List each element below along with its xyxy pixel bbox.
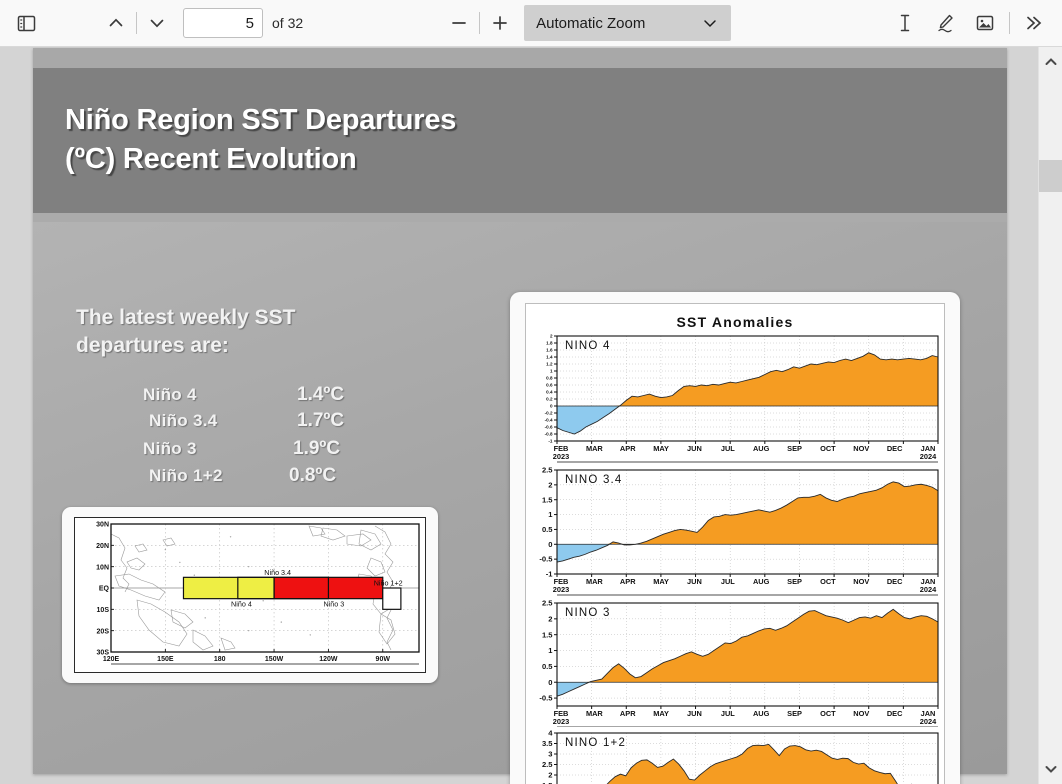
map-lon-tick-label: 180 <box>214 656 226 663</box>
chart-svg-nino-1-2: 43.532.521.510.50-0.5-1FEBMARAPRMAYJUNJU… <box>526 727 946 784</box>
page-number-input[interactable] <box>183 8 263 38</box>
x-tick-label: SEP <box>787 444 802 453</box>
add-image-icon <box>974 12 996 34</box>
chevron-down-icon <box>703 16 731 30</box>
y-tick-label: 2 <box>548 614 552 623</box>
x-axis-year-label: 2024 <box>920 452 937 461</box>
y-tick-label: 2 <box>550 334 553 339</box>
y-tick-label: 0 <box>550 404 553 409</box>
y-tick-label: -0.8 <box>545 432 553 437</box>
page-total-label: of 32 <box>272 15 303 31</box>
zoom-level-select[interactable]: Automatic Zoom <box>524 5 731 41</box>
map-lon-tick-label: 150W <box>265 656 284 663</box>
x-tick-label: APR <box>620 577 636 586</box>
y-tick-label: -0.2 <box>545 411 553 416</box>
y-tick-label: 3 <box>548 750 552 759</box>
more-tools-button[interactable] <box>1014 7 1054 39</box>
page-navigation: of 32 <box>100 8 303 38</box>
map-lat-tick-label: 20N <box>96 543 109 550</box>
zoom-controls: Automatic Zoom <box>443 5 731 41</box>
y-tick-label: 1 <box>548 510 553 519</box>
region-name: Niño 3 <box>143 439 283 459</box>
scrollbar-thumb[interactable] <box>1039 160 1062 192</box>
list-item: Niño 3.4 1.7ºC <box>143 410 413 432</box>
next-page-button[interactable] <box>141 8 173 38</box>
x-tick-label: JUN <box>687 444 702 453</box>
sst-anomalies-chart: SST Anomalies 21.81.61.41.210.80.60.40.2… <box>525 303 945 784</box>
pencil-draw-icon <box>934 12 956 34</box>
x-tick-label: AUG <box>753 709 770 718</box>
y-tick-label: 2 <box>548 480 552 489</box>
chart-panel-nino34: 2.521.510.50-0.5-1FEBMARAPRMAYJUNJULAUGS… <box>526 464 946 597</box>
toolbar-divider <box>479 12 480 34</box>
chevron-down-icon <box>148 14 166 32</box>
y-tick-label: -0.6 <box>545 425 553 430</box>
x-tick-label: OCT <box>820 444 836 453</box>
y-tick-label: 0.6 <box>546 383 553 388</box>
y-tick-label: -1 <box>548 439 553 444</box>
add-image-tool-button[interactable] <box>965 7 1005 39</box>
slide-title-band: Niño Region SST Departures (ºC) Recent E… <box>33 68 1007 213</box>
x-tick-label: OCT <box>820 709 836 718</box>
toolbar-divider <box>136 12 137 34</box>
page-title: Niño Region SST Departures (ºC) Recent E… <box>65 101 485 178</box>
region-name: Niño 4 <box>143 385 283 405</box>
x-tick-label: JUL <box>721 444 735 453</box>
region-value: 1.4ºC <box>283 384 344 406</box>
x-axis-year-label: 2023 <box>553 585 569 594</box>
y-tick-label: 0 <box>548 678 552 687</box>
vertical-scrollbar[interactable] <box>1038 47 1062 784</box>
zoom-in-button[interactable] <box>484 8 516 38</box>
latest-weekly-heading: The latest weekly SST departures are: <box>76 304 376 361</box>
map-lon-tick-label: 120E <box>103 656 120 663</box>
y-tick-label: -0.4 <box>545 418 553 423</box>
x-axis-year-label: 2023 <box>553 717 569 726</box>
x-axis-year-label: 2024 <box>920 585 937 594</box>
scroll-up-button[interactable] <box>1039 51 1062 73</box>
chart-svg-nino-4: 21.81.61.41.210.80.60.40.20-0.2-0.4-0.6-… <box>526 330 946 464</box>
y-tick-label: 1.6 <box>546 348 553 353</box>
annotation-tools <box>885 7 1054 39</box>
sidebar-toggle-button[interactable] <box>10 8 42 38</box>
chart-panel-nino3: 2.521.510.50-0.5FEBMARAPRMAYJUNJULAUGSEP… <box>526 597 946 727</box>
x-tick-label: NOV <box>853 577 869 586</box>
map-lat-tick-label: 10S <box>97 607 110 614</box>
chevron-down-icon <box>1044 762 1058 776</box>
y-tick-label: -0.5 <box>539 694 553 703</box>
x-tick-label: NOV <box>853 709 869 718</box>
region-name: Niño 1+2 <box>143 466 283 486</box>
chart-title: SST Anomalies <box>526 314 944 330</box>
sidebar-toggle-icon <box>17 14 36 33</box>
band-divider <box>33 213 1007 222</box>
x-axis-year-label: 2024 <box>920 717 937 726</box>
map-lat-tick-label: 30N <box>96 522 109 529</box>
y-tick-label: 2.5 <box>542 599 553 608</box>
x-tick-label: APR <box>620 444 636 453</box>
page-top-band <box>33 48 1007 68</box>
x-tick-label: DEC <box>887 444 903 453</box>
region-values-list: Niño 4 1.4ºC Niño 3.4 1.7ºC Niño 3 1.9ºC… <box>143 384 413 491</box>
x-tick-label: SEP <box>787 577 802 586</box>
map-lon-tick-label: 120W <box>319 656 338 663</box>
nino-regions-map: Niño 3.4Niño 1+2Niño 4Niño 330N20N10NEQ1… <box>74 517 426 673</box>
chevron-up-icon <box>1044 55 1058 69</box>
map-lat-tick-label: 10N <box>96 564 109 571</box>
minus-icon <box>449 13 469 33</box>
y-tick-label: 0.8 <box>546 376 553 381</box>
map-box-label: Niño 1+2 <box>374 579 403 588</box>
x-tick-label: JUL <box>721 709 735 718</box>
nino-regions-map-card: Niño 3.4Niño 1+2Niño 4Niño 330N20N10NEQ1… <box>62 507 438 683</box>
x-tick-label: MAR <box>586 709 603 718</box>
x-tick-label: MAY <box>653 709 669 718</box>
scroll-down-button[interactable] <box>1039 758 1062 780</box>
x-tick-label: DEC <box>887 577 903 586</box>
map-box-label: Niño 4 <box>231 600 252 609</box>
y-tick-label: 1.8 <box>546 341 553 346</box>
chart-panel-nino4: 21.81.61.41.210.80.60.40.20-0.2-0.4-0.6-… <box>526 330 946 464</box>
y-tick-label: 1.5 <box>542 630 553 639</box>
text-select-tool-button[interactable] <box>885 7 925 39</box>
map-lon-tick-label: 90W <box>376 656 391 663</box>
text-cursor-icon <box>895 12 915 34</box>
region-value: 1.9ºC <box>283 438 340 460</box>
map-lon-tick-label: 150E <box>157 656 174 663</box>
x-tick-label: MAY <box>653 577 669 586</box>
map-lat-tick-label: EQ <box>99 586 110 593</box>
double-chevron-right-icon <box>1023 12 1045 34</box>
x-tick-label: MAR <box>586 444 603 453</box>
map-lat-tick-label: 20S <box>97 628 110 635</box>
x-tick-label: NOV <box>853 444 869 453</box>
previous-page-button[interactable] <box>100 8 132 38</box>
x-tick-label: JUL <box>721 577 735 586</box>
region-value: 1.7ºC <box>283 410 344 432</box>
map-box-label: Niño 3 <box>323 600 344 609</box>
y-tick-label: 1.4 <box>546 355 553 360</box>
x-axis-year-label: 2023 <box>553 452 569 461</box>
list-item: Niño 1+2 0.8ºC <box>143 465 413 487</box>
x-tick-label: JUN <box>687 709 702 718</box>
list-item: Niño 3 1.9ºC <box>143 438 413 460</box>
y-tick-label: 4 <box>548 729 553 738</box>
map-box-label: Niño 3.4 <box>264 568 291 577</box>
y-tick-label: 1 <box>550 369 553 374</box>
y-tick-label: 2.5 <box>542 466 553 475</box>
y-tick-label: 1.5 <box>542 495 553 504</box>
region-name: Niño 3.4 <box>143 411 283 431</box>
series-label: NINO 4 <box>565 340 611 352</box>
y-tick-label: 2.5 <box>542 760 553 769</box>
y-tick-label: 0 <box>548 540 552 549</box>
pdf-viewer-area[interactable]: Niño Region SST Departures (ºC) Recent E… <box>0 47 1062 784</box>
series-label: NINO 3 <box>565 607 611 619</box>
y-tick-label: 0.5 <box>542 662 553 671</box>
sst-anomalies-chart-card: SST Anomalies 21.81.61.41.210.80.60.40.2… <box>510 292 960 784</box>
series-label: NINO 3.4 <box>565 474 623 486</box>
plus-icon <box>490 13 510 33</box>
x-tick-label: AUG <box>753 444 770 453</box>
x-tick-label: SEP <box>787 709 802 718</box>
map-svg: Niño 3.4Niño 1+2Niño 4Niño 330N20N10NEQ1… <box>75 518 425 672</box>
x-tick-label: DEC <box>887 709 903 718</box>
pdf-page-5: Niño Region SST Departures (ºC) Recent E… <box>33 48 1007 774</box>
x-tick-label: APR <box>620 709 636 718</box>
series-label: NINO 1+2 <box>565 737 626 749</box>
y-tick-label: 1.2 <box>546 362 553 367</box>
x-tick-label: OCT <box>820 577 836 586</box>
draw-tool-button[interactable] <box>925 7 965 39</box>
x-tick-label: MAR <box>586 577 603 586</box>
toolbar-divider <box>1009 12 1010 34</box>
y-tick-label: 2 <box>548 771 552 780</box>
zoom-level-label: Automatic Zoom <box>524 15 703 32</box>
chevron-up-icon <box>107 14 125 32</box>
pdf-toolbar: of 32 Automatic Zoom <box>0 0 1062 47</box>
zoom-out-button[interactable] <box>443 8 475 38</box>
y-tick-label: -1 <box>546 570 554 579</box>
y-tick-label: 0.4 <box>546 390 553 395</box>
y-tick-label: 0.2 <box>546 397 553 402</box>
chart-svg-nino-3-4: 2.521.510.50-0.5-1FEBMARAPRMAYJUNJULAUGS… <box>526 464 946 597</box>
x-tick-label: MAY <box>653 444 669 453</box>
chart-panel-nino12: 43.532.521.510.50-0.5-1FEBMARAPRMAYJUNJU… <box>526 727 946 784</box>
x-tick-label: AUG <box>753 577 770 586</box>
region-value: 0.8ºC <box>283 465 336 487</box>
y-tick-label: 1 <box>548 646 553 655</box>
y-tick-label: 0.5 <box>542 525 553 534</box>
list-item: Niño 4 1.4ºC <box>143 384 413 406</box>
slide-body: The latest weekly SST departures are: Ni… <box>33 222 1007 774</box>
chart-svg-nino-3: 2.521.510.50-0.5FEBMARAPRMAYJUNJULAUGSEP… <box>526 597 946 727</box>
y-tick-label: 3.5 <box>542 739 553 748</box>
y-tick-label: -0.5 <box>539 555 553 564</box>
x-tick-label: JUN <box>687 577 702 586</box>
